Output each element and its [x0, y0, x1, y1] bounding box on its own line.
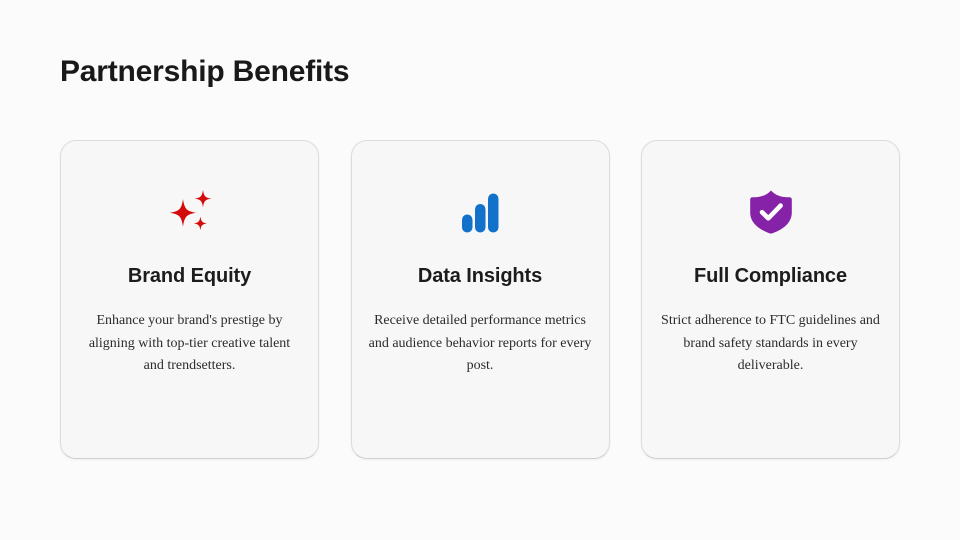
benefits-card-list: Brand Equity Enhance your brand's presti…: [60, 140, 900, 459]
bar-chart-icon: [452, 183, 508, 239]
benefit-card-data-insights[interactable]: Data Insights Receive detailed performan…: [351, 140, 610, 459]
benefit-card-title: Brand Equity: [128, 265, 251, 287]
benefit-card-title: Full Compliance: [694, 265, 847, 287]
benefit-card-full-compliance[interactable]: Full Compliance Strict adherence to FTC …: [641, 140, 900, 459]
benefit-card-description: Receive detailed performance metrics and…: [368, 310, 593, 378]
benefit-card-brand-equity[interactable]: Brand Equity Enhance your brand's presti…: [60, 140, 319, 459]
benefit-card-description: Enhance your brand's prestige by alignin…: [77, 310, 302, 378]
sparkles-icon: [162, 183, 218, 239]
benefit-card-title: Data Insights: [418, 265, 542, 287]
page-title: Partnership Benefits: [60, 57, 349, 87]
benefit-card-description: Strict adherence to FTC guidelines and b…: [658, 310, 883, 378]
slide-root: Partnership Benefits Brand Equity Enhanc…: [0, 0, 960, 540]
shield-check-icon: [743, 183, 799, 239]
